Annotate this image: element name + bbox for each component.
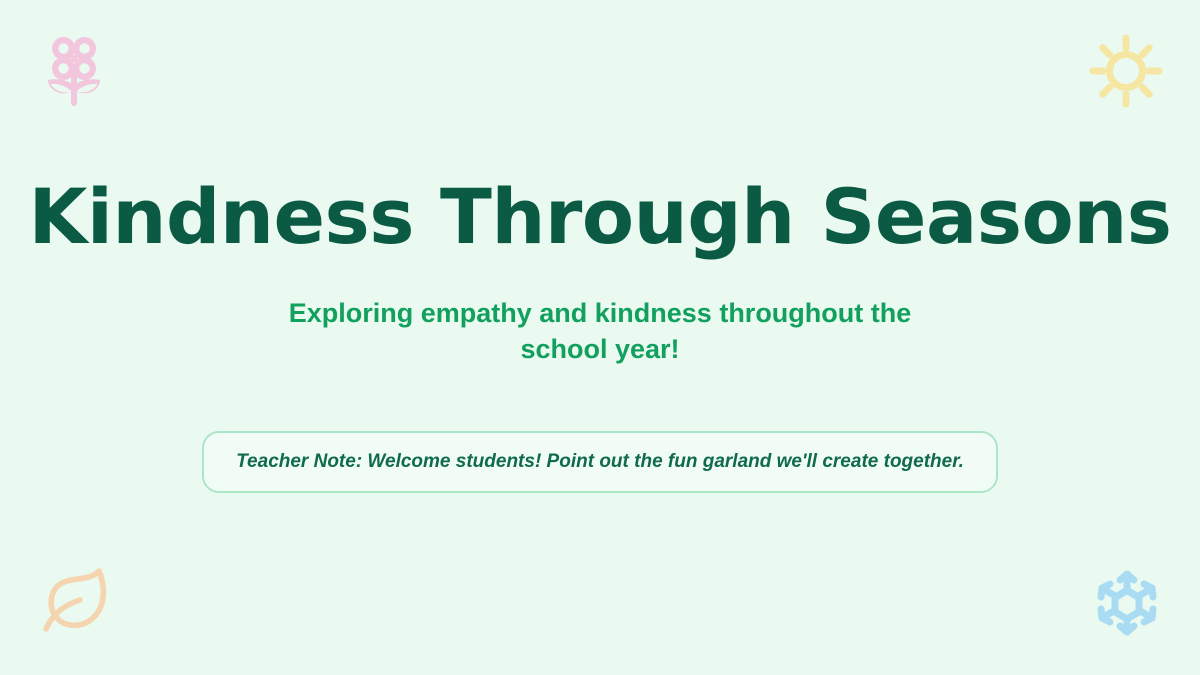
teacher-note-text: Teacher Note: Welcome students! Point ou… — [236, 450, 964, 475]
page-title: Kindness Through Seasons — [28, 176, 1171, 258]
slide-content: Kindness Through Seasons Exploring empat… — [0, 0, 1200, 675]
slide-canvas: Kindness Through Seasons Exploring empat… — [0, 0, 1200, 675]
slide-subtitle: Exploring empathy and kindness throughou… — [250, 296, 950, 367]
teacher-note-box: Teacher Note: Welcome students! Point ou… — [202, 431, 998, 493]
